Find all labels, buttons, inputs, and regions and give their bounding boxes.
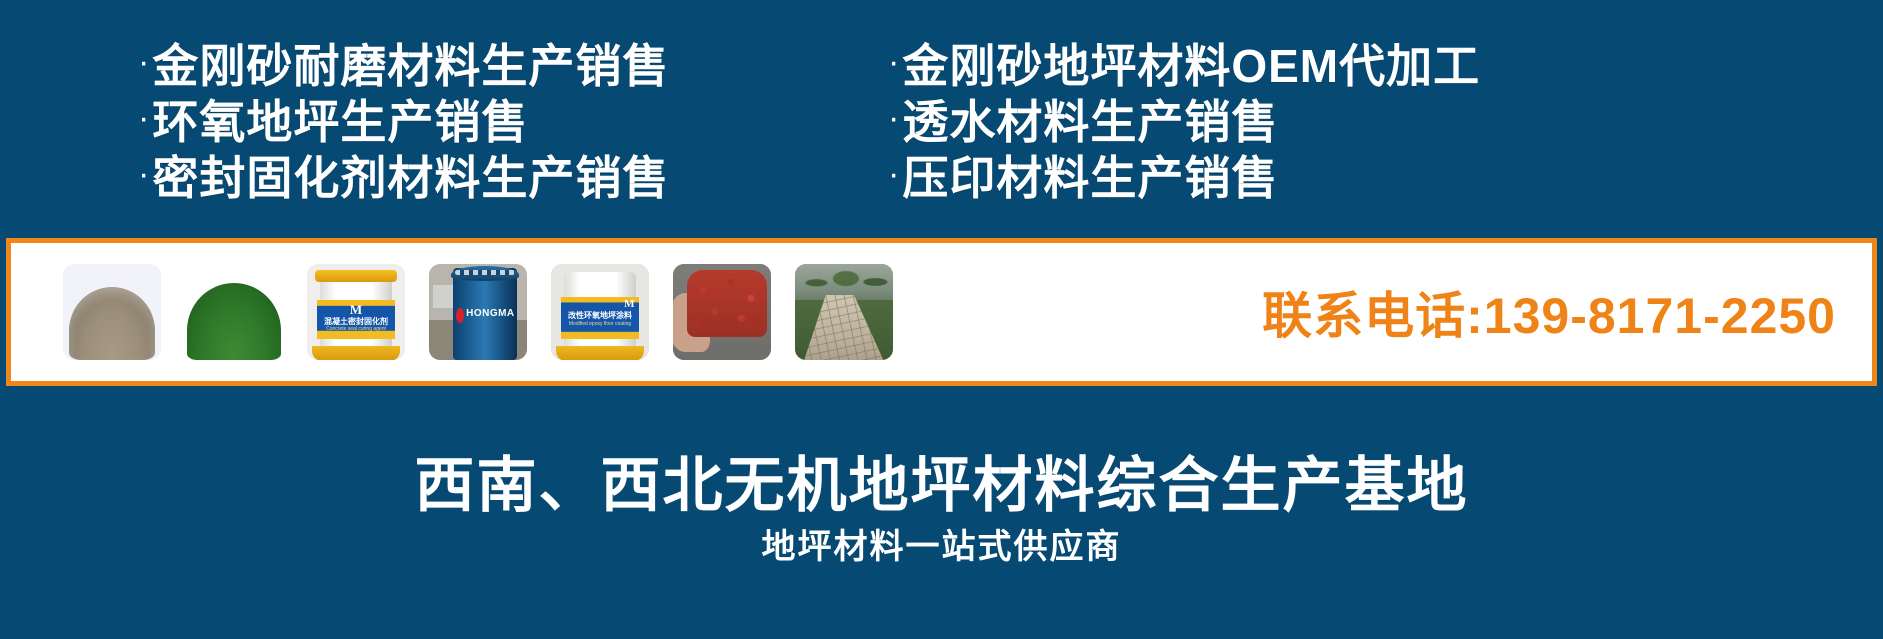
pail-label-en: Modified epoxy floor coating (569, 321, 631, 327)
pail-lid (315, 270, 396, 283)
service-label: 金刚砂耐磨材料生产销售 (152, 43, 669, 89)
service-item-2: · 环氧地坪生产销售 (138, 99, 868, 145)
bullet-dot-icon: · (138, 101, 149, 135)
drum-body: HONGMA (453, 268, 518, 360)
aggregate-scene-chips (687, 270, 767, 337)
bullet-dot-icon: · (888, 101, 899, 135)
product-thumb-red-aggregate-icon (673, 264, 771, 360)
service-item-3: · 密封固化剂材料生产销售 (138, 155, 868, 201)
hongma-logo-icon (456, 308, 464, 323)
pail-base (556, 346, 643, 360)
bullet-dot-icon: · (888, 45, 899, 79)
services-left-column: · 金刚砂耐磨材料生产销售 · 环氧地坪生产销售 · 密封固化剂材料生产销售 (138, 43, 868, 201)
slogan-headline: 西南、西北无机地坪材料综合生产基地 (415, 456, 1469, 516)
bullet-dot-icon: · (138, 157, 149, 191)
product-thumb-curing-agent-pail-icon: M 混凝土密封固化剂 Concrete seal curing agent (307, 264, 405, 360)
bullet-dot-icon: · (138, 45, 149, 79)
product-thumb-stamped-path-icon (795, 264, 893, 360)
product-thumb-grey-powder-icon (63, 264, 161, 360)
service-item-5: · 透水材料生产销售 (888, 99, 1788, 145)
drum-brand-text: HONGMA (466, 308, 515, 319)
pail-label: M 改性环氧地坪涂料 Modified epoxy floor coating (561, 297, 639, 339)
brand-mark-icon: M (350, 303, 362, 316)
service-item-1: · 金刚砂耐磨材料生产销售 (138, 43, 868, 89)
product-thumb-epoxy-pail-icon: M 改性环氧地坪涂料 Modified epoxy floor coating (551, 264, 649, 360)
pail-label-en: Concrete seal curing agent (326, 326, 386, 332)
pail-shape: M 改性环氧地坪涂料 Modified epoxy floor coating (564, 272, 637, 356)
pail-shape: M 混凝土密封固化剂 Concrete seal curing agent (320, 272, 393, 356)
slogan-subline: 地坪材料一站式供应商 (762, 530, 1122, 564)
service-label: 密封固化剂材料生产销售 (152, 155, 669, 201)
service-label: 透水材料生产销售 (902, 99, 1278, 145)
service-label: 金刚砂地坪材料OEM代加工 (902, 43, 1480, 89)
contact-phone[interactable]: 联系电话:139-8171-2250 (1262, 276, 1836, 348)
service-item-4: · 金刚砂地坪材料OEM代加工 (888, 43, 1788, 89)
service-item-6: · 压印材料生产销售 (888, 155, 1788, 201)
services-right-column: · 金刚砂地坪材料OEM代加工 · 透水材料生产销售 · 压印材料生产销售 (888, 43, 1788, 201)
product-thumb-green-powder-icon (185, 264, 283, 360)
service-label: 环氧地坪生产销售 (152, 99, 528, 145)
brand-mark-icon: M (624, 299, 634, 310)
pail-label: M 混凝土密封固化剂 Concrete seal curing agent (317, 300, 395, 339)
pail-base (312, 346, 399, 360)
service-label: 压印材料生产销售 (902, 155, 1278, 201)
promo-banner: · 金刚砂耐磨材料生产销售 · 环氧地坪生产销售 · 密封固化剂材料生产销售 ·… (0, 0, 1883, 639)
product-thumb-hongma-drum-icon: HONGMA (429, 264, 527, 360)
product-thumbnail-list: M 混凝土密封固化剂 Concrete seal curing agent HO… (63, 264, 893, 360)
drum-lid (451, 266, 520, 281)
bullet-dot-icon: · (888, 157, 899, 191)
slogan-section: 西南、西北无机地坪材料综合生产基地 地坪材料一站式供应商 (0, 386, 1883, 639)
product-strip: M 混凝土密封固化剂 Concrete seal curing agent HO… (6, 238, 1877, 386)
services-section: · 金刚砂耐磨材料生产销售 · 环氧地坪生产销售 · 密封固化剂材料生产销售 ·… (0, 0, 1883, 238)
pail-label-cn: 改性环氧地坪涂料 (568, 310, 632, 321)
